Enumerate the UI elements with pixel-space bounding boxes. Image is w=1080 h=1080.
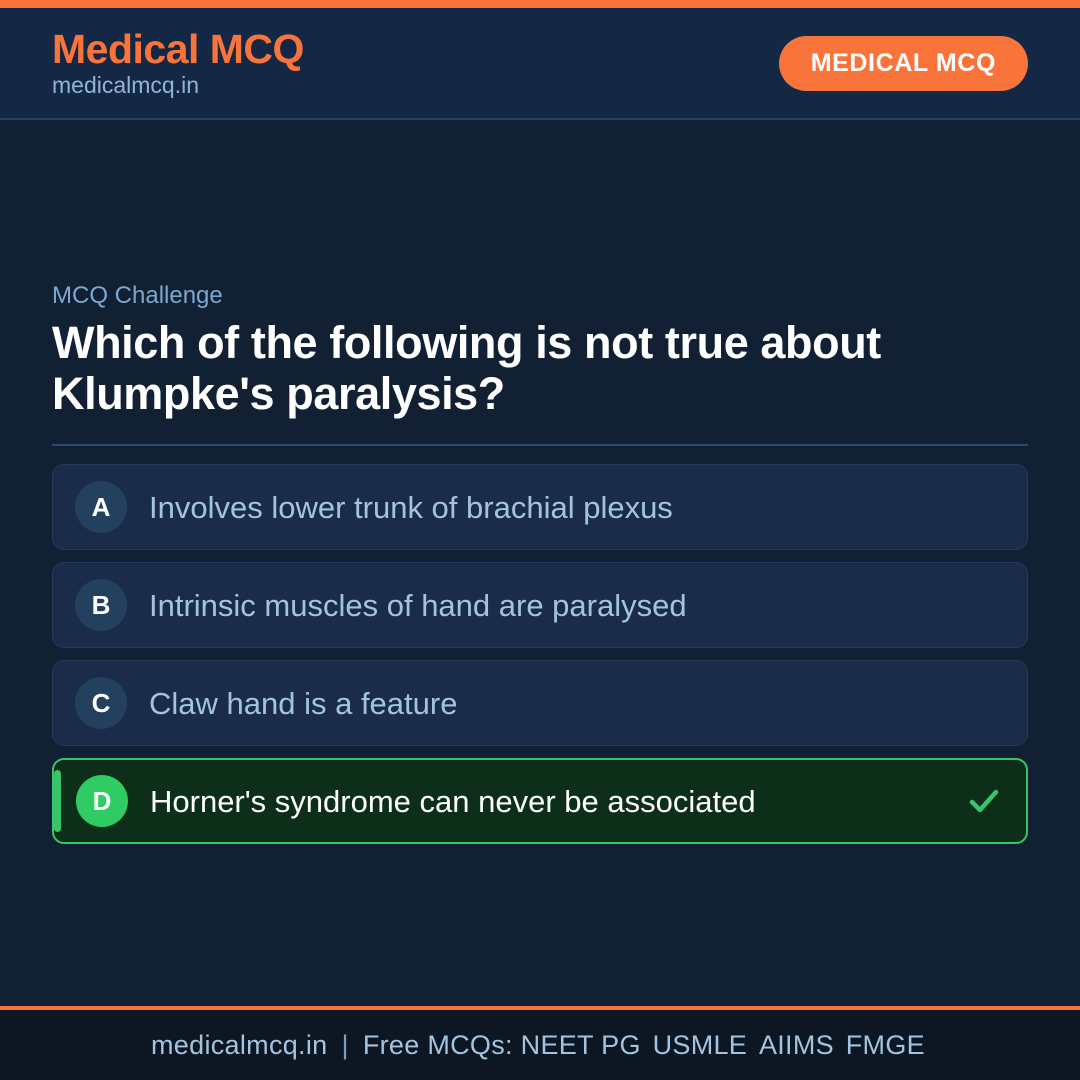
page-title: Which of the following is not true about… (52, 317, 1028, 421)
top-accent-bar (0, 0, 1080, 8)
question-divider (52, 444, 1028, 446)
main-content: MCQ Challenge Which of the following is … (0, 120, 1080, 1006)
footer-site: medicalmcq.in (151, 1030, 327, 1060)
options-list: A Involves lower trunk of brachial plexu… (52, 464, 1028, 844)
option-letter-badge: D (76, 775, 128, 827)
option-row-c[interactable]: C Claw hand is a feature (52, 660, 1028, 746)
footer-exam-neetpg: NEET PG (521, 1030, 645, 1060)
option-letter-badge: B (75, 579, 127, 631)
footer-exams-label: Free MCQs: (363, 1030, 513, 1060)
footer-exam-aiims: AIIMS (759, 1030, 838, 1060)
footer-exam-usmle: USMLE (653, 1030, 752, 1060)
brand-title: Medical MCQ (52, 28, 304, 71)
option-row-a[interactable]: A Involves lower trunk of brachial plexu… (52, 464, 1028, 550)
header-badge: MEDICAL MCQ (779, 36, 1028, 91)
option-text: Claw hand is a feature (149, 685, 1005, 722)
option-row-b[interactable]: B Intrinsic muscles of hand are paralyse… (52, 562, 1028, 648)
option-letter-badge: C (75, 677, 127, 729)
option-row-d[interactable]: D Horner's syndrome can never be associa… (52, 758, 1028, 844)
question-eyebrow: MCQ Challenge (52, 282, 1028, 311)
check-icon (964, 781, 1004, 821)
option-text: Horner's syndrome can never be associate… (150, 783, 964, 820)
page-header: Medical MCQ medicalmcq.in MEDICAL MCQ (0, 8, 1080, 120)
page-footer: medicalmcq.in|Free MCQs: NEET PG USMLE A… (0, 1006, 1080, 1080)
footer-text: medicalmcq.in|Free MCQs: NEET PG USMLE A… (151, 1030, 929, 1061)
brand-block: Medical MCQ medicalmcq.in (52, 28, 304, 98)
correct-accent-bar (54, 770, 61, 832)
option-letter-badge: A (75, 481, 127, 533)
option-text: Intrinsic muscles of hand are paralysed (149, 587, 1005, 624)
footer-separator: | (327, 1030, 362, 1060)
footer-exam-fmge: FMGE (846, 1030, 929, 1060)
option-text: Involves lower trunk of brachial plexus (149, 489, 1005, 526)
brand-subtitle: medicalmcq.in (52, 73, 304, 98)
